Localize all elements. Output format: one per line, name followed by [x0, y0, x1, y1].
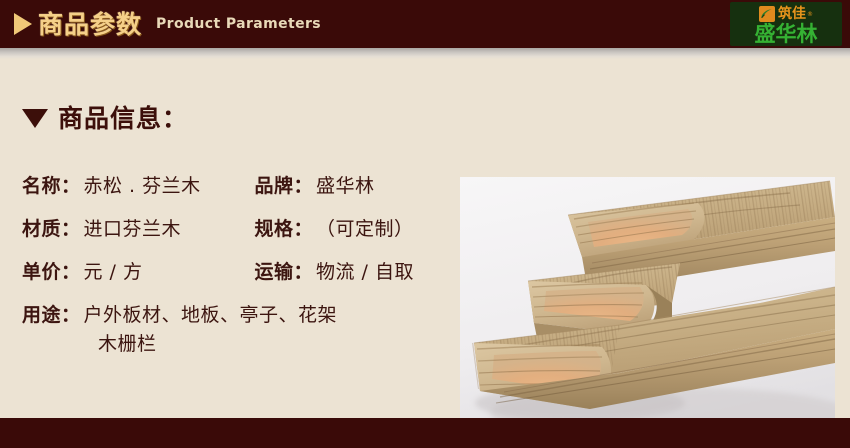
- table-row: 材质： 进口芬兰木 规格： （可定制）: [22, 214, 442, 257]
- info-cell-price: 单价： 元 / 方: [22, 257, 255, 284]
- page-body: 商品信息： 名称： 赤松 . 芬兰木 品牌： 盛华林 材质： 进口芬兰木: [0, 59, 850, 418]
- header-shadow-divider: [0, 48, 850, 59]
- page-footer-bar: [0, 418, 850, 448]
- info-value: 元 / 方: [84, 257, 143, 284]
- table-row: 单价： 元 / 方 运输： 物流 / 自取: [22, 257, 442, 300]
- product-info-table: 名称： 赤松 . 芬兰木 品牌： 盛华林 材质： 进口芬兰木 规格： （可定制）: [22, 171, 442, 343]
- table-row: 用途： 户外板材、地板、亭子、花架 木栅栏: [22, 300, 442, 343]
- info-cell-shipping: 运输： 物流 / 自取: [255, 257, 443, 284]
- info-label: 运输：: [255, 257, 314, 284]
- info-cell-brand: 品牌： 盛华林: [255, 171, 443, 198]
- info-label: 用途：: [22, 300, 81, 327]
- info-label: 规格：: [255, 214, 314, 241]
- info-value: 进口芬兰木: [84, 214, 182, 241]
- brand-logo: 筑佳® 盛华林: [730, 2, 842, 46]
- info-label: 品牌：: [255, 171, 314, 198]
- registered-mark-icon: ®: [807, 11, 813, 18]
- info-cell-material: 材质： 进口芬兰木: [22, 214, 255, 241]
- triangle-down-icon: [22, 109, 48, 128]
- info-value: （可定制）: [316, 214, 414, 241]
- info-label: 材质：: [22, 214, 81, 241]
- header-title-cn: 商品参数: [38, 12, 142, 37]
- header-title-group: 商品参数 Product Parameters: [14, 0, 321, 48]
- info-label: 单价：: [22, 257, 81, 284]
- product-photo: [460, 177, 835, 444]
- table-row: 名称： 赤松 . 芬兰木 品牌： 盛华林: [22, 171, 442, 214]
- logo-top-row: 筑佳®: [730, 4, 842, 24]
- leaf-icon: [759, 6, 775, 22]
- section-heading-text: 商品信息：: [58, 106, 188, 131]
- product-parameters-page: 商品参数 Product Parameters 筑佳® 盛华林 商品信息：: [0, 0, 850, 448]
- info-value: 盛华林: [316, 171, 375, 198]
- info-cell-spec: 规格： （可定制）: [255, 214, 443, 241]
- info-value: 户外板材、地板、亭子、花架: [84, 300, 338, 327]
- play-triangle-icon: [14, 13, 32, 35]
- info-value: 赤松 . 芬兰木: [84, 171, 201, 198]
- page-header-bar: 商品参数 Product Parameters 筑佳® 盛华林: [0, 0, 850, 48]
- logo-brand-top: 筑佳: [778, 7, 806, 21]
- info-label: 名称：: [22, 171, 81, 198]
- header-title-en: Product Parameters: [156, 17, 321, 31]
- info-value: 物流 / 自取: [316, 257, 414, 284]
- logo-brand-bottom: 盛华林: [730, 22, 842, 46]
- info-value-continued: 木栅栏: [98, 327, 442, 354]
- info-cell-name: 名称： 赤松 . 芬兰木: [22, 171, 255, 198]
- info-cell-usage: 用途： 户外板材、地板、亭子、花架: [22, 300, 442, 327]
- section-heading: 商品信息：: [22, 106, 188, 131]
